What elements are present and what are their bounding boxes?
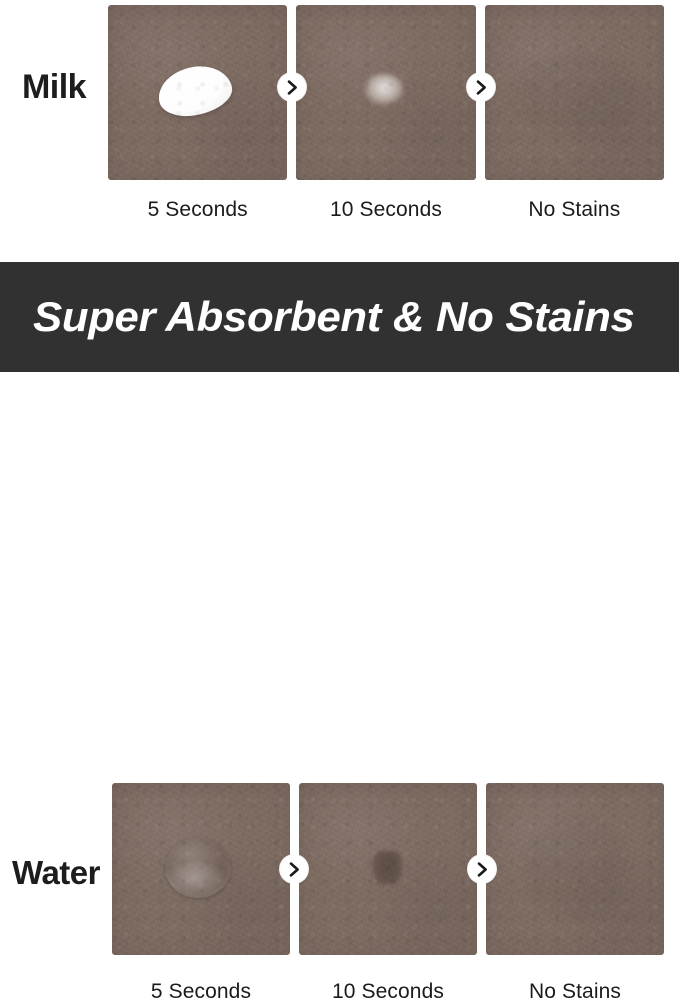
water-clean-surface: [523, 815, 629, 919]
chevron-right-icon: [468, 855, 496, 883]
caption-milk-5s: 5 Seconds: [108, 198, 287, 222]
swatch-strip-water: [112, 783, 664, 955]
caption-milk-10s: 10 Seconds: [296, 198, 475, 222]
leather-panel-water-10s: [299, 783, 477, 955]
substance-label-milk: Milk: [0, 70, 108, 104]
leather-panel-milk-5s: [108, 5, 287, 180]
milk-clean-surface: [512, 51, 644, 137]
swatch-slot-milk-10s: [296, 5, 475, 180]
caption-water-5s: 5 Seconds: [112, 980, 290, 1004]
milk-droplet: [154, 60, 235, 120]
leather-panel-milk-10s: [296, 5, 475, 180]
demo-row-milk: Milk 5 Seconds 10 Seconds N: [0, 0, 679, 250]
water-absorbing-spot: [373, 851, 402, 885]
swatch-strip-milk: [108, 5, 664, 180]
swatch-slot-water-10s: [299, 783, 477, 955]
feature-banner: Super Absorbent & No Stains: [0, 262, 679, 372]
chevron-right-icon: [278, 73, 306, 101]
swatch-slot-water-nostains: [486, 783, 664, 955]
caption-water-10s: 10 Seconds: [299, 980, 477, 1004]
banner-headline: Super Absorbent & No Stains: [33, 296, 635, 338]
demo-row-water: Water 5 Seconds 10 Seconds: [0, 380, 679, 626]
swatch-slot-milk-nostains: [485, 5, 664, 180]
milk-absorbing-spot: [364, 74, 404, 105]
chevron-right-icon: [467, 73, 495, 101]
leather-panel-milk-nostains: [485, 5, 664, 180]
caption-row-water: 5 Seconds 10 Seconds No Stains: [112, 980, 664, 1004]
caption-water-nostains: No Stains: [486, 980, 664, 1004]
chevron-right-icon: [280, 855, 308, 883]
leather-panel-water-nostains: [486, 783, 664, 955]
leather-panel-water-5s: [112, 783, 290, 955]
caption-row-milk: 5 Seconds 10 Seconds No Stains: [108, 198, 664, 222]
swatch-slot-water-5s: [112, 783, 290, 955]
water-droplet: [165, 838, 231, 898]
substance-label-water: Water: [0, 856, 112, 889]
caption-milk-nostains: No Stains: [485, 198, 664, 222]
swatch-slot-milk-5s: [108, 5, 287, 180]
